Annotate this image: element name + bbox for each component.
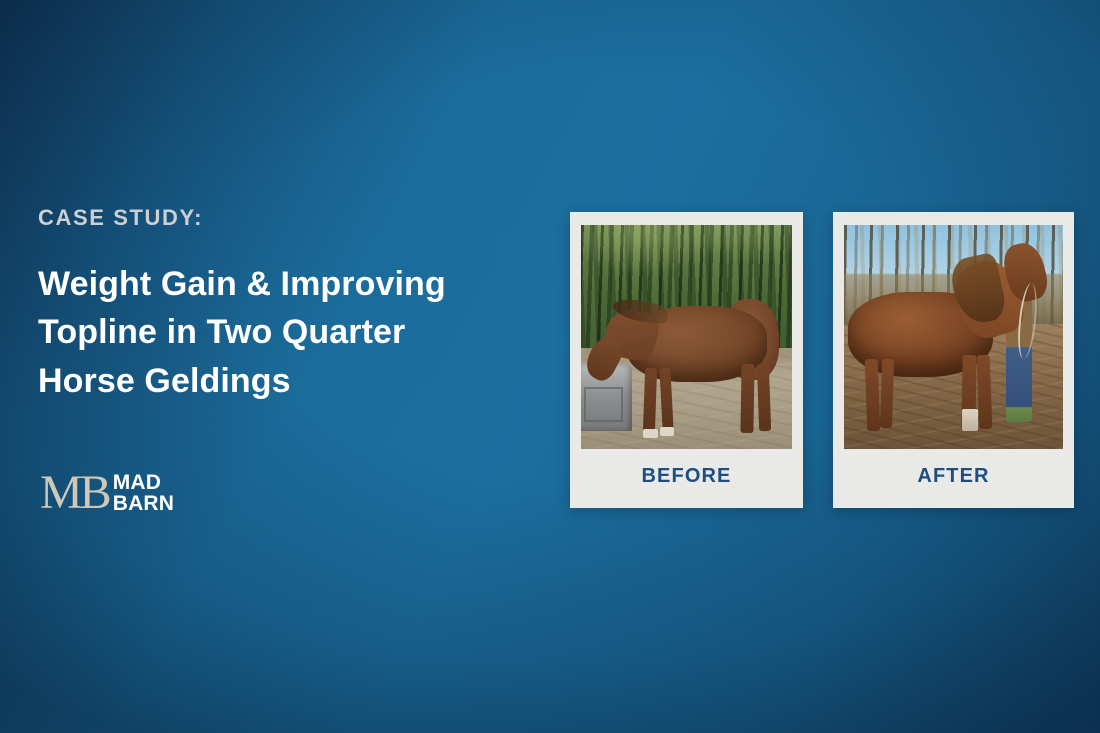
- logo-monogram: MB: [40, 470, 109, 516]
- before-canopy-light: [581, 225, 792, 292]
- logo-wordmark-line1: MAD: [113, 472, 174, 493]
- after-photo: [844, 225, 1063, 449]
- logo-wordmark-line2: BARN: [113, 493, 174, 514]
- after-caption: AFTER: [833, 465, 1074, 488]
- after-photo-scene: [844, 225, 1063, 449]
- after-horse-hindleg-far: [865, 359, 881, 431]
- case-study-eyebrow: CASE STUDY:: [38, 206, 508, 230]
- text-column: CASE STUDY: Weight Gain & Improving Topl…: [38, 206, 508, 405]
- after-horse-foreleg-near: [976, 355, 992, 429]
- before-photo-scene: [581, 225, 792, 449]
- before-caption: BEFORE: [570, 465, 803, 488]
- before-horse-hoof-far: [660, 427, 674, 436]
- after-horse-white-sock: [962, 409, 977, 431]
- before-horse-hoof-near: [643, 429, 658, 438]
- case-study-slide: CASE STUDY: Weight Gain & Improving Topl…: [0, 0, 1100, 733]
- before-photo: [581, 225, 792, 449]
- after-photo-frame: AFTER: [833, 212, 1074, 508]
- logo-wordmark: MAD BARN: [113, 472, 174, 514]
- before-photo-frame: BEFORE: [570, 212, 803, 508]
- before-horse-hindleg-near: [741, 364, 755, 434]
- mad-barn-logo: MB MAD BARN: [40, 470, 174, 516]
- page-title: Weight Gain & Improving Topline in Two Q…: [38, 260, 508, 405]
